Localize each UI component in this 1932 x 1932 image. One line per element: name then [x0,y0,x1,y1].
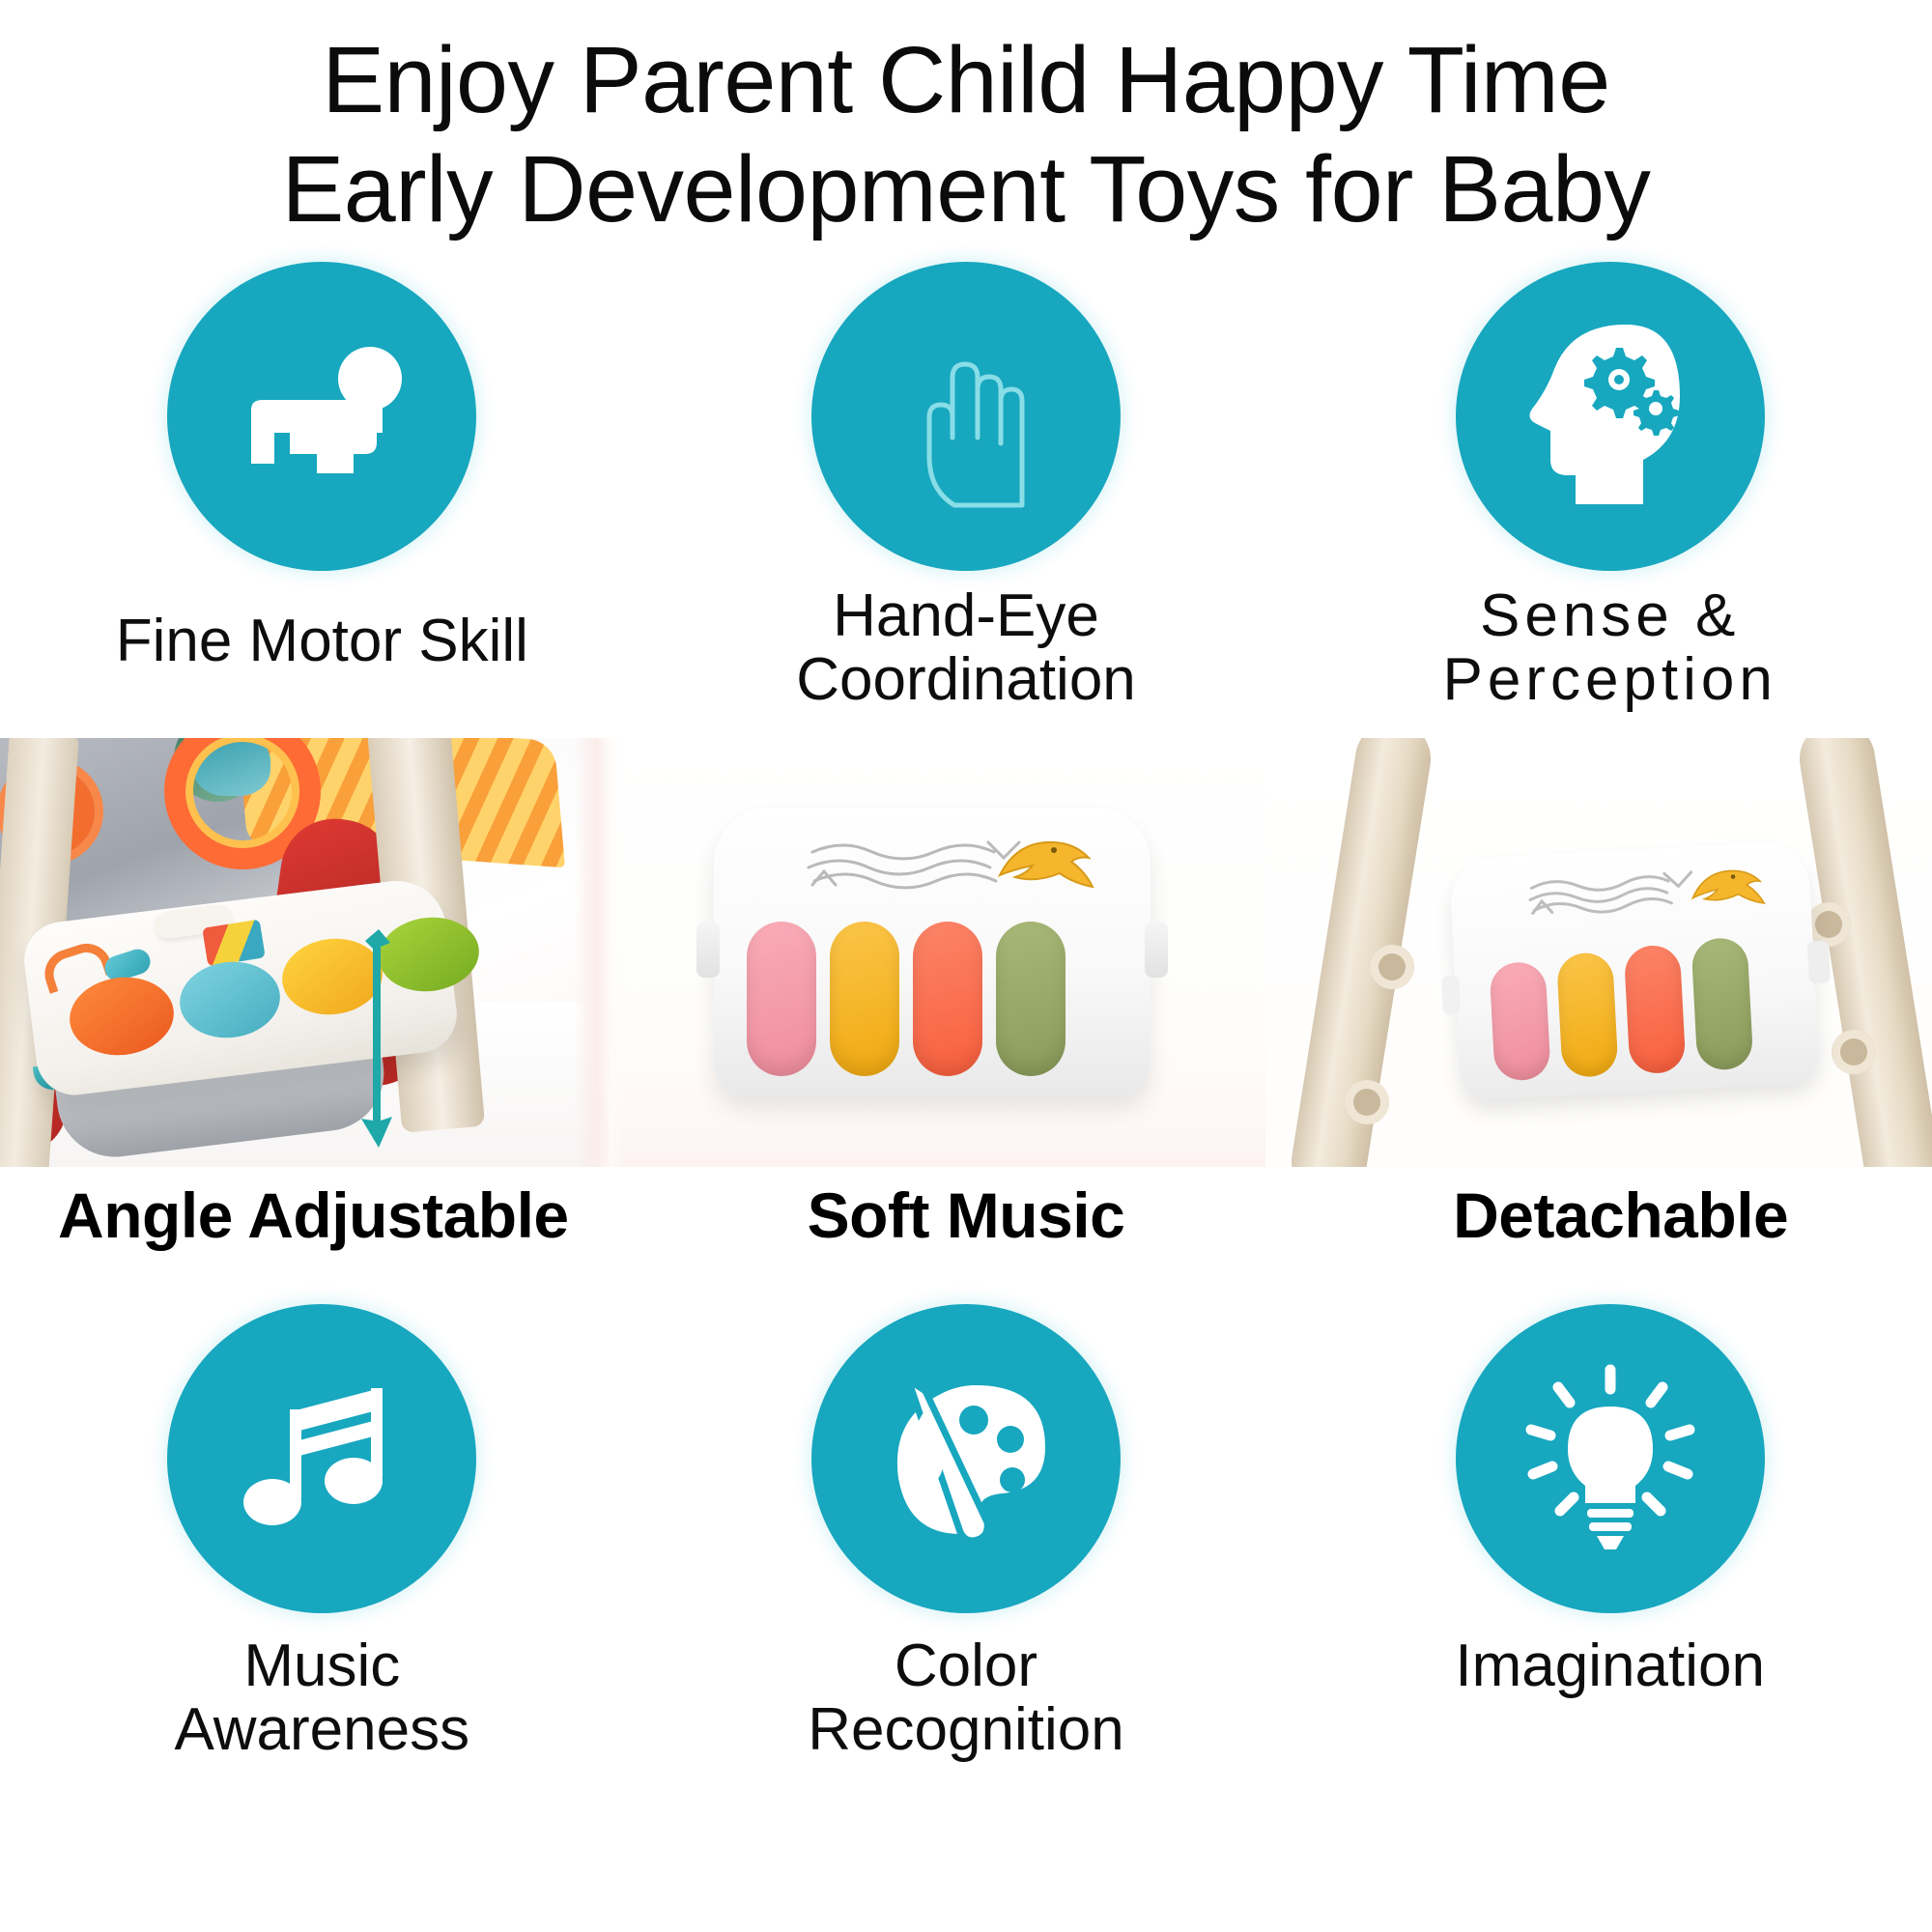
piano-key-amber[interactable] [830,922,899,1076]
piano-key-coral[interactable] [1624,944,1687,1074]
feature-soft-music: Soft Music [644,1179,1289,1252]
piano-keys [747,922,1065,1076]
feature-label: Soft Music [808,1179,1125,1251]
benefit-label: Music Awareness [175,1634,470,1763]
benefit-sense-perception: Sense & Perception [1288,262,1932,713]
benefit-imagination: Imagination [1288,1304,1932,1763]
benefit-fine-motor-skill: Fine Motor Skill [0,262,644,713]
lightbulb-icon [1456,1304,1765,1613]
benefits-bottom-row: Music Awareness Color Recognition [0,1304,1932,1763]
piano-key-olive[interactable] [996,922,1065,1076]
title-line-1: Enjoy Parent Child Happy Time [0,25,1932,134]
feature-label-row: Angle Adjustable Soft Music Detachable [0,1179,1932,1252]
title-line-2: Early Development Toys for Baby [0,134,1932,243]
feature-photo-strip [0,738,1932,1167]
crawling-baby-icon [167,262,476,571]
detached-module-body [1449,840,1821,1100]
walker-piano-panel-angle-photo [0,738,599,1167]
detached-piano-module-photo [1265,738,1932,1167]
yellow-dolphin-icon [1685,860,1776,913]
benefits-top-row: Fine Motor Skill Hand-Eye Coordination [0,262,1932,713]
piano-key-amber[interactable] [1556,952,1619,1078]
piano-key-olive[interactable] [1690,936,1753,1070]
benefit-label: Sense & Perception [1442,584,1776,713]
benefit-label: Fine Motor Skill [116,610,528,673]
hand-touch-icon [811,262,1121,571]
benefit-color-recognition: Color Recognition [644,1304,1289,1763]
feature-detachable: Detachable [1288,1179,1932,1252]
benefit-label: Hand-Eye Coordination [796,584,1136,713]
head-with-gears-icon [1456,262,1765,571]
page-title: Enjoy Parent Child Happy Time Early Deve… [0,0,1932,244]
piano-module-front-photo [599,738,1265,1167]
benefit-music-awareness: Music Awareness [0,1304,644,1763]
piano-key-coral[interactable] [913,922,982,1076]
piano-key-pink[interactable] [747,922,816,1076]
benefit-label: Imagination [1455,1634,1765,1698]
yellow-dolphin-icon [992,833,1108,893]
feature-angle-adjustable: Angle Adjustable [0,1179,644,1252]
piano-key-pink[interactable] [1489,960,1550,1081]
angle-adjust-arrow-icon [319,918,435,1159]
feature-label: Detachable [1453,1179,1788,1251]
feature-label: Angle Adjustable [58,1179,569,1251]
music-note-icon [167,1304,476,1613]
benefit-hand-eye-coordination: Hand-Eye Coordination [644,262,1289,713]
paint-palette-icon [811,1304,1121,1613]
piano-keys [1489,936,1754,1081]
benefit-label: Color Recognition [808,1634,1123,1763]
